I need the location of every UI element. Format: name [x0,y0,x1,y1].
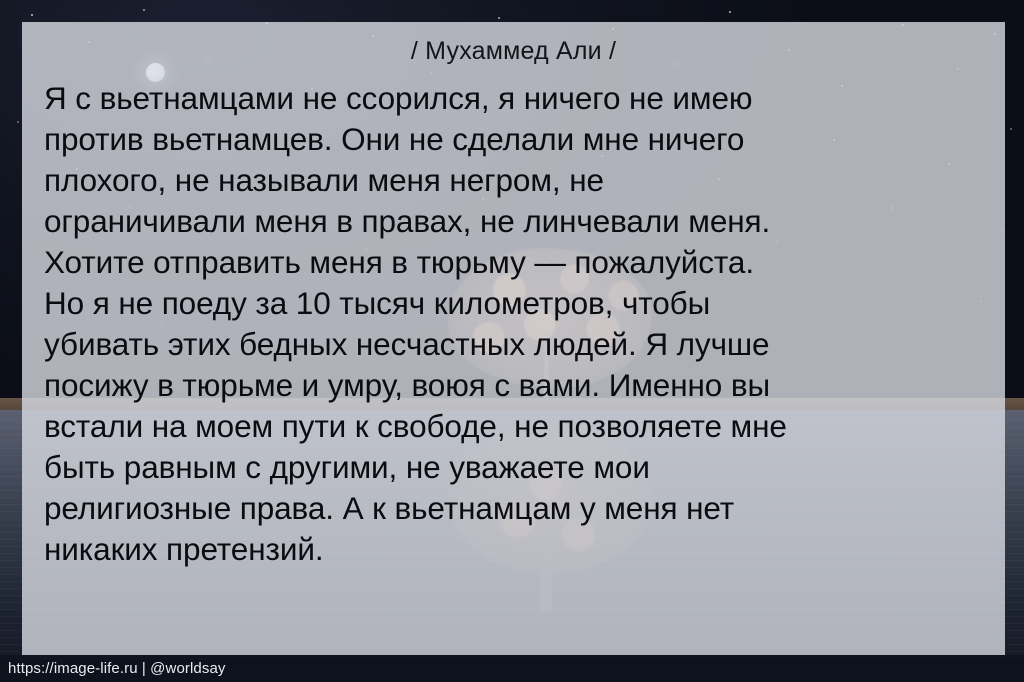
quote-line: посижу в тюрьме и умру, воюя с вами. Име… [44,365,983,406]
quote-line: никаких претензий. [44,529,983,570]
quote-panel: / Мухаммед Али / Я с вьетнамцами не ссор… [22,22,1005,655]
quote-line: убивать этих бедных несчастных людей. Я … [44,324,983,365]
quote-line: быть равным с другими, не уважаете мои [44,447,983,488]
author-attribution: / Мухаммед Али / [40,37,987,66]
quote-line: Но я не поеду за 10 тысяч километров, чт… [44,283,983,324]
quote-image-canvas: / Мухаммед Али / Я с вьетнамцами не ссор… [0,0,1024,682]
quote-line: Хотите отправить меня в тюрьму — пожалуй… [44,242,983,283]
quote-line: против вьетнамцев. Они не сделали мне ни… [44,119,983,160]
quote-line: религиозные права. А к вьетнамцам у меня… [44,488,983,529]
watermark-text: https://image-life.ru | @worldsay [0,660,226,677]
starfield-icon [0,0,2,2]
quote-line: Я с вьетнамцами не ссорился, я ничего не… [44,78,983,119]
quote-line: встали на моем пути к свободе, не позвол… [44,406,983,447]
watermark-bar: https://image-life.ru | @worldsay [0,655,1024,682]
quote-line: плохого, не называли меня негром, не [44,160,983,201]
quote-text: Я с вьетнамцами не ссорился, я ничего не… [40,78,987,570]
quote-line: ограничивали меня в правах, не линчевали… [44,201,983,242]
